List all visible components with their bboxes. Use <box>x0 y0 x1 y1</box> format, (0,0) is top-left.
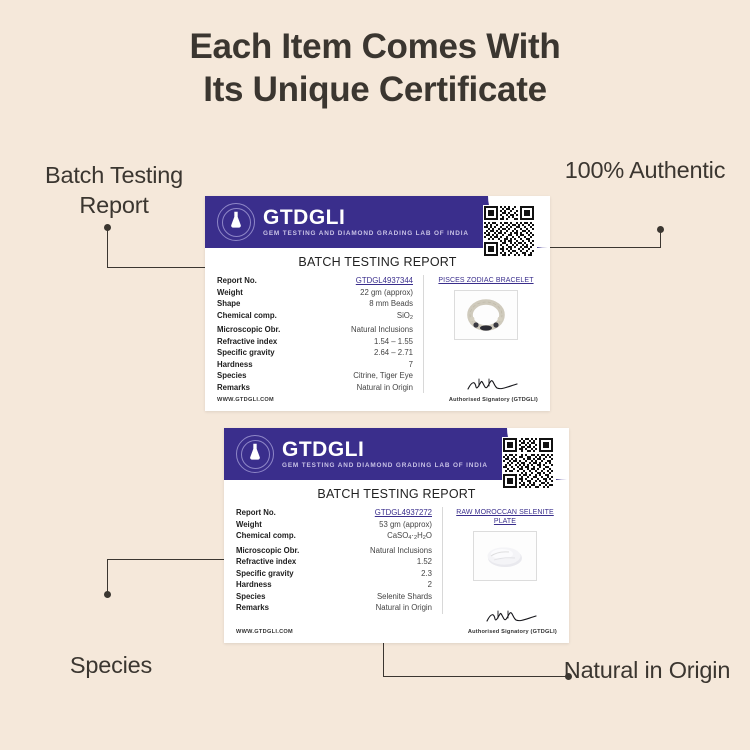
lab-seal-icon <box>217 203 255 241</box>
field-row: Weight22 gm (approx) <box>217 287 413 299</box>
field-row: Refractive index1.54 – 1.55 <box>217 336 413 348</box>
field-value: SiO2 <box>397 310 413 325</box>
field-value: 22 gm (approx) <box>360 287 413 299</box>
page-title: Each Item Comes With Its Unique Certific… <box>0 26 750 111</box>
certificate-footer-1: WWW.GTDGLI.COM Authorised Signatory (GTD… <box>205 378 550 403</box>
field-label: Refractive index <box>217 336 277 348</box>
field-label: Hardness <box>217 359 253 371</box>
field-value: Natural Inclusions <box>351 324 413 336</box>
field-label: Weight <box>236 519 262 531</box>
callout-100-authentic: 100% Authentic <box>550 155 740 185</box>
field-row: Report No.GTDGL4937344 <box>217 275 413 287</box>
page-title-line-2: Its Unique Certificate <box>0 69 750 112</box>
signature-block-2: Authorised Signatory (GTDGLI) <box>468 610 557 635</box>
field-label: Species <box>236 591 265 603</box>
product-name-2[interactable]: RAW MOROCCAN SELENITE PLATE <box>453 508 557 526</box>
field-row: Specific gravity2.64 – 2.71 <box>217 347 413 359</box>
website-text-2: WWW.GTDGLI.COM <box>236 629 293 635</box>
flask-glyph <box>249 443 261 461</box>
callout-species: Species <box>26 650 196 680</box>
field-label: Weight <box>217 287 243 299</box>
brand-tagline: GEM TESTING AND DIAMOND GRADING LAB OF I… <box>282 463 488 469</box>
certificate-footer-2: WWW.GTDGLI.COM Authorised Signatory (GTD… <box>224 610 569 635</box>
field-row: Hardness2 <box>236 579 432 591</box>
field-row: Refractive index1.52 <box>236 556 432 568</box>
field-value-link[interactable]: GTDGL4937272 <box>375 507 432 519</box>
field-label: Specific gravity <box>236 568 294 580</box>
page-title-line-1: Each Item Comes With <box>0 26 750 69</box>
callout-natural-in-origin: Natural in Origin <box>552 655 742 685</box>
field-value: 2.3 <box>421 568 432 580</box>
field-label: Chemical comp. <box>236 530 296 545</box>
website-text-1: WWW.GTDGLI.COM <box>217 397 274 403</box>
field-label: Chemical comp. <box>217 310 277 325</box>
brand-lockup-1: GTDGLI GEM TESTING AND DIAMOND GRADING L… <box>217 203 469 241</box>
field-row: Chemical comp.CaSO4·2H2O <box>236 530 432 545</box>
signature-block-1: Authorised Signatory (GTDGLI) <box>449 378 538 403</box>
product-image-1 <box>454 290 518 340</box>
promo-graphic: Each Item Comes With Its Unique Certific… <box>0 0 750 750</box>
field-value: 7 <box>409 359 413 371</box>
callout-batch-testing-report: Batch Testing Report <box>14 160 214 220</box>
field-row: Microscopic Obr.Natural Inclusions <box>217 324 413 336</box>
certificate-card-2[interactable]: GTDGLI GEM TESTING AND DIAMOND GRADING L… <box>224 428 569 643</box>
field-value: CaSO4·2H2O <box>387 530 432 545</box>
field-row: Chemical comp.SiO2 <box>217 310 413 325</box>
field-value: 2.64 – 2.71 <box>374 347 413 359</box>
signature-icon <box>484 610 540 624</box>
product-panel-2: RAW MOROCCAN SELENITE PLATE <box>453 507 557 614</box>
field-label: Hardness <box>236 579 272 591</box>
field-value: Selenite Shards <box>377 591 432 603</box>
field-value: 8 mm Beads <box>369 298 413 310</box>
field-row: Report No.GTDGL4937272 <box>236 507 432 519</box>
column-divider <box>442 507 443 614</box>
signatory-label-2: Authorised Signatory (GTDGLI) <box>468 629 557 635</box>
field-row: Hardness7 <box>217 359 413 371</box>
signatory-label-1: Authorised Signatory (GTDGLI) <box>449 397 538 403</box>
field-label: Specific gravity <box>217 347 275 359</box>
field-value: Natural Inclusions <box>370 545 432 557</box>
fields-table-1: Report No.GTDGL4937344Weight22 gm (appro… <box>217 275 413 393</box>
selenite-plate-icon <box>482 539 528 573</box>
field-value: 2 <box>428 579 432 591</box>
qr-code-2[interactable] <box>502 437 556 491</box>
product-panel-1: PISCES ZODIAC BRACELET <box>434 275 538 393</box>
certificate-card-1[interactable]: GTDGLI GEM TESTING AND DIAMOND GRADING L… <box>205 196 550 411</box>
lab-seal-icon <box>236 435 274 473</box>
column-divider <box>423 275 424 393</box>
flask-glyph <box>230 211 242 229</box>
qr-code-svg <box>484 206 534 256</box>
field-label: Shape <box>217 298 240 310</box>
qr-code-1[interactable] <box>483 205 537 259</box>
beaded-bracelet-icon <box>464 295 508 335</box>
field-row: Shape8 mm Beads <box>217 298 413 310</box>
brand-name: GTDGLI <box>282 439 488 460</box>
field-row: SpeciesSelenite Shards <box>236 591 432 603</box>
field-label: Report No. <box>236 507 276 519</box>
qr-code-svg <box>503 438 553 488</box>
brand-lockup-2: GTDGLI GEM TESTING AND DIAMOND GRADING L… <box>236 435 488 473</box>
field-label: Microscopic Obr. <box>217 324 280 336</box>
brand-name: GTDGLI <box>263 207 469 228</box>
field-value-link[interactable]: GTDGL4937344 <box>356 275 413 287</box>
field-label: Report No. <box>217 275 257 287</box>
signature-icon <box>465 378 521 392</box>
certificate-body-2: Report No.GTDGL4937272Weight53 gm (appro… <box>224 501 569 614</box>
field-row: Microscopic Obr.Natural Inclusions <box>236 545 432 557</box>
certificate-body-1: Report No.GTDGL4937344Weight22 gm (appro… <box>205 269 550 393</box>
field-value: 53 gm (approx) <box>379 519 432 531</box>
product-name-1[interactable]: PISCES ZODIAC BRACELET <box>434 276 538 285</box>
brand-tagline: GEM TESTING AND DIAMOND GRADING LAB OF I… <box>263 231 469 237</box>
fields-table-2: Report No.GTDGL4937272Weight53 gm (appro… <box>236 507 432 614</box>
field-row: Weight53 gm (approx) <box>236 519 432 531</box>
field-value: 1.52 <box>417 556 432 568</box>
product-image-2 <box>473 531 537 581</box>
field-value: 1.54 – 1.55 <box>374 336 413 348</box>
field-row: Specific gravity2.3 <box>236 568 432 580</box>
field-label: Microscopic Obr. <box>236 545 299 557</box>
field-label: Refractive index <box>236 556 296 568</box>
